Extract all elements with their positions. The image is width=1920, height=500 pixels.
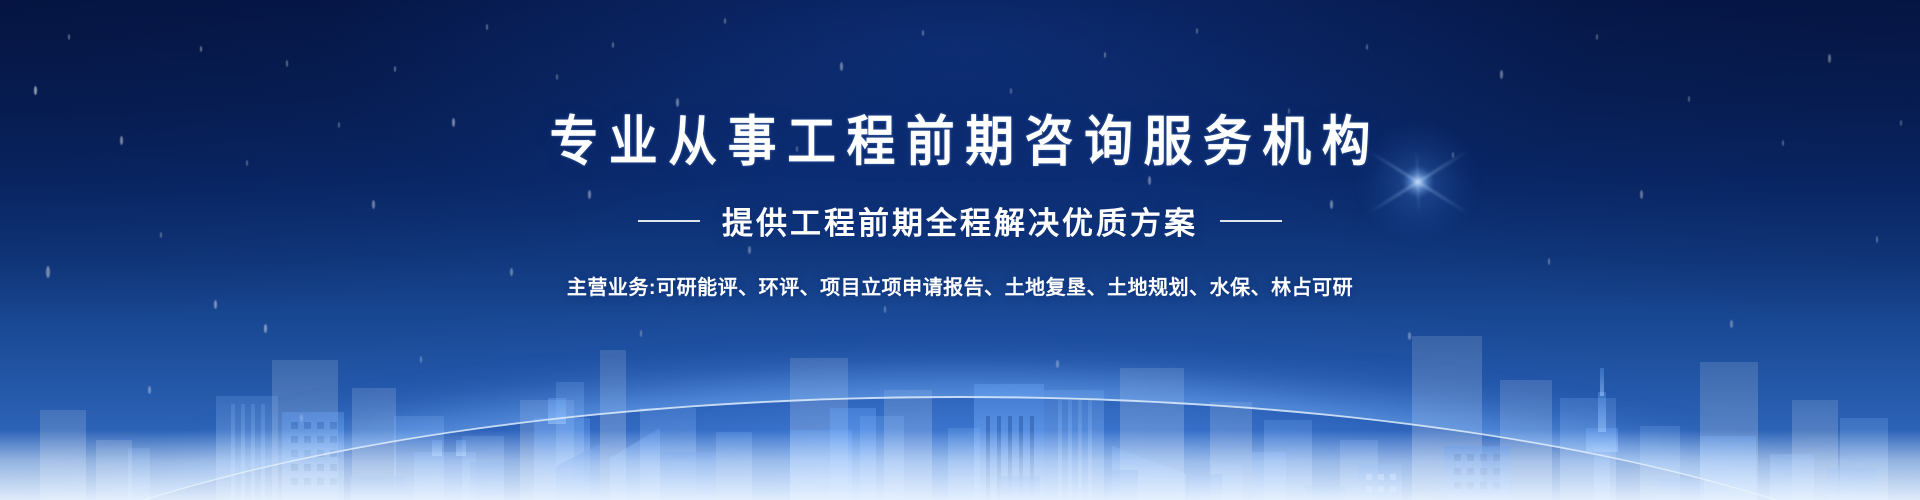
banner-services-line: 主营业务:可研能评、环评、项目立项申请报告、土地复垦、土地规划、水保、林占可研 — [0, 271, 1920, 300]
particle-speck — [1730, 320, 1733, 328]
rule-left-icon — [638, 220, 700, 222]
particle-speck — [148, 386, 151, 394]
skyline-layer-front — [350, 444, 1876, 500]
skyline-layer-mid — [128, 382, 1888, 500]
particle-speck — [1408, 332, 1411, 340]
banner-subheadline-row: 提供工程前期全程解决优质方案 — [0, 198, 1920, 243]
particle-speck — [640, 330, 642, 337]
horizon-rim — [0, 396, 1920, 500]
skyline-layer-far — [40, 336, 1838, 500]
rule-right-icon — [1220, 220, 1282, 222]
banner-content: 专业从事工程前期咨询服务机构 提供工程前期全程解决优质方案 主营业务:可研能评、… — [0, 0, 1920, 300]
particle-speck — [420, 356, 422, 363]
particle-speck — [264, 324, 267, 333]
banner-headline: 专业从事工程前期咨询服务机构 — [96, 0, 1824, 172]
bottom-fade — [0, 430, 1920, 500]
particle-speck — [884, 306, 886, 313]
particle-speck — [1056, 360, 1059, 368]
hero-banner: 专业从事工程前期咨询服务机构 提供工程前期全程解决优质方案 主营业务:可研能评、… — [0, 0, 1920, 500]
particle-speck — [300, 414, 303, 422]
banner-subheadline: 提供工程前期全程解决优质方案 — [722, 198, 1198, 243]
particle-speck — [214, 300, 217, 309]
horizon-glow — [0, 360, 1920, 500]
skyline-layer-near — [282, 368, 1814, 500]
